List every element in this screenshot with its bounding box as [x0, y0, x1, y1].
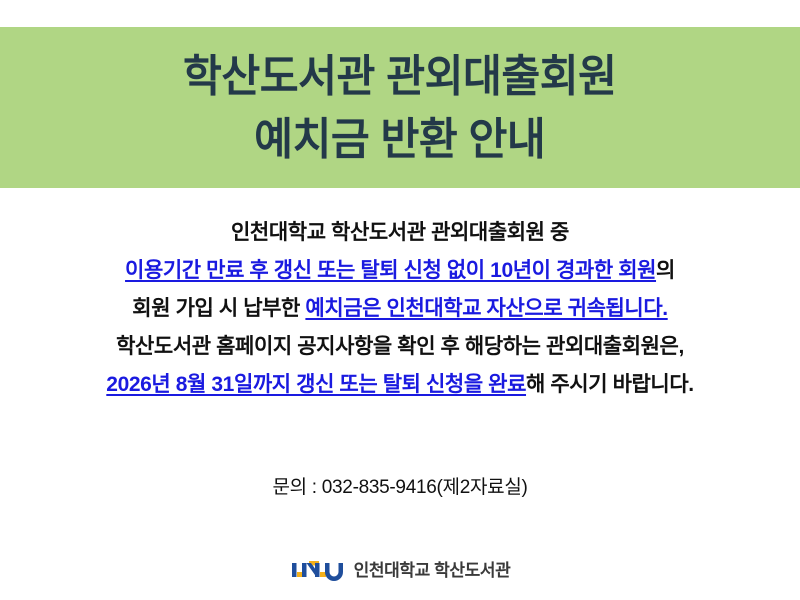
notice-line-1: 인천대학교 학산도서관 관외대출회원 중 — [0, 214, 800, 252]
notice-line-3: 회원 가입 시 납부한 예치금은 인천대학교 자산으로 귀속됩니다. — [0, 290, 800, 328]
notice-line-2-highlight: 이용기간 만료 후 갱신 또는 탈퇴 신청 없이 10년이 경과한 회원 — [125, 259, 656, 282]
notice-line-3-segment-1: 회원 가입 시 납부한 — [132, 297, 305, 320]
footer: 인천대학교 학산도서관 — [0, 556, 800, 581]
header-title-line-1: 학산도서관 관외대출회원 — [183, 46, 616, 108]
notice-line-2-segment-2: 의 — [656, 259, 675, 282]
header-title-line-2: 예치금 반환 안내 — [254, 109, 545, 171]
inu-logo-icon — [290, 557, 346, 581]
footer-organization-label: 인천대학교 학산도서관 — [354, 556, 511, 581]
notice-line-1-segment-1: 인천대학교 학산도서관 관외대출회원 중 — [231, 221, 569, 244]
notice-body: 인천대학교 학산도서관 관외대출회원 중 이용기간 만료 후 갱신 또는 탈퇴 … — [0, 214, 800, 404]
notice-line-5: 2026년 8월 31일까지 갱신 또는 탈퇴 신청을 완료해 주시기 바랍니다… — [0, 366, 800, 404]
header-banner: 학산도서관 관외대출회원 예치금 반환 안내 — [0, 27, 800, 188]
notice-line-5-highlight: 2026년 8월 31일까지 갱신 또는 탈퇴 신청을 완료 — [106, 373, 526, 396]
notice-line-3-highlight: 예치금은 인천대학교 자산으로 귀속됩니다. — [305, 297, 667, 320]
notice-line-4: 학산도서관 홈페이지 공지사항을 확인 후 해당하는 관외대출회원은, — [0, 328, 800, 366]
notice-poster: 학산도서관 관외대출회원 예치금 반환 안내 인천대학교 학산도서관 관외대출회… — [0, 0, 800, 600]
notice-line-2: 이용기간 만료 후 갱신 또는 탈퇴 신청 없이 10년이 경과한 회원의 — [0, 252, 800, 290]
contact-info: 문의 : 032-835-9416(제2자료실) — [0, 472, 800, 499]
notice-line-4-segment-1: 학산도서관 홈페이지 공지사항을 확인 후 해당하는 관외대출회원은, — [116, 335, 684, 358]
notice-line-5-segment-2: 해 주시기 바랍니다. — [526, 373, 694, 396]
